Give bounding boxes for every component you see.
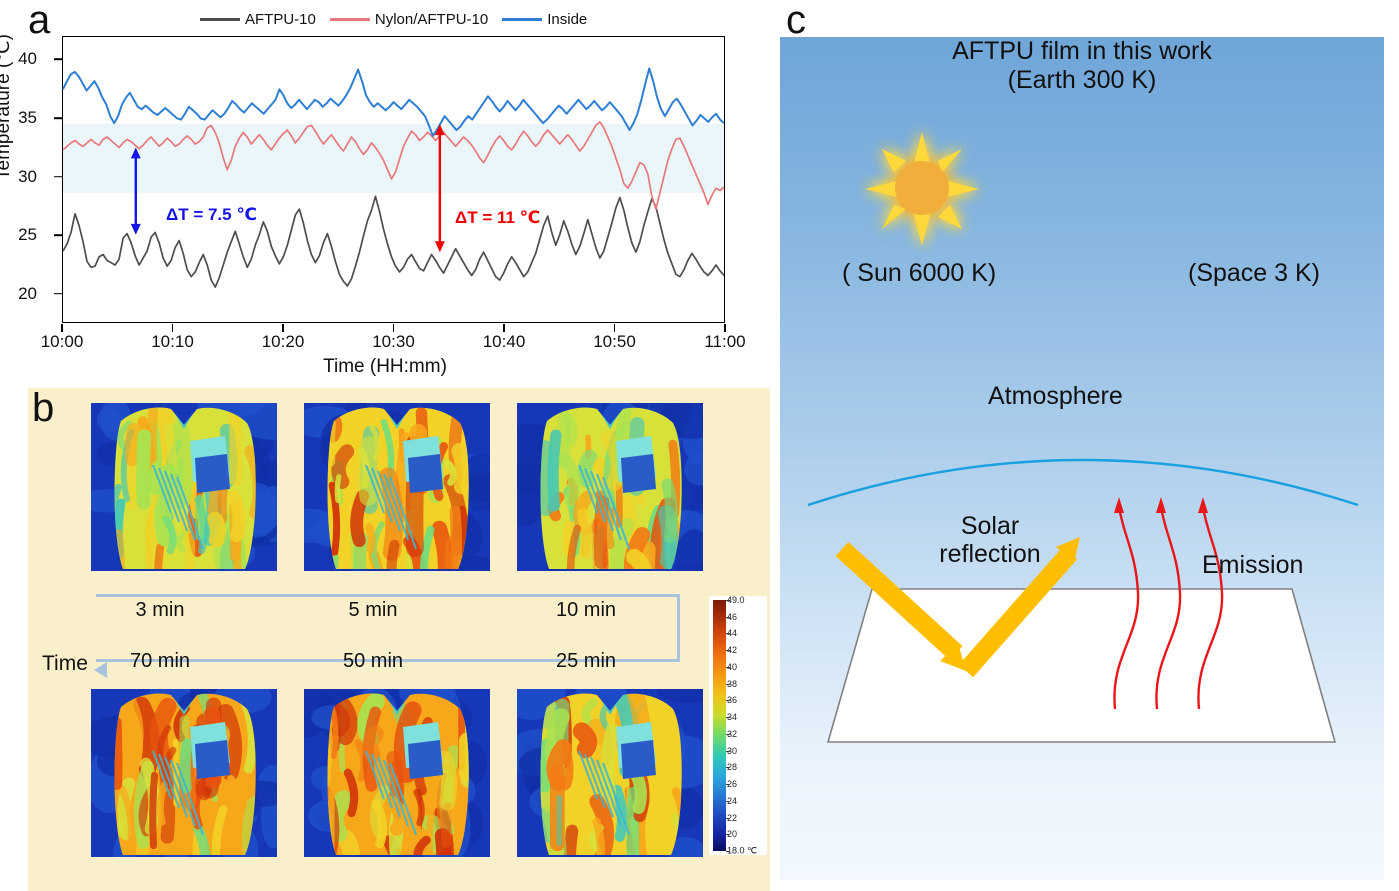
chart-legend: AFTPU-10Nylon/AFTPU-10Inside <box>200 8 590 30</box>
time-label-bottom-1: 70 min <box>130 650 190 673</box>
colorbar-gradient <box>713 600 726 851</box>
time-label-top-2: 5 min <box>349 599 398 622</box>
y-tick-20: 20 <box>0 284 37 304</box>
legend-item-2: Inside <box>502 11 587 28</box>
legend-swatch-2 <box>502 18 542 21</box>
thermal-image-5min <box>304 403 490 571</box>
thermal-image-10min <box>517 403 703 571</box>
colorbar-dash-15 <box>726 851 730 852</box>
delta-t-red-label: ΔT = 11 ℃ <box>455 208 540 228</box>
panel-a-temperature-chart: a AFTPU-10Nylon/AFTPU-10Inside 202530354… <box>0 0 770 385</box>
colorbar-dash-2 <box>726 633 730 634</box>
colorbar-dash-3 <box>726 650 730 651</box>
atmosphere-arc <box>808 460 1358 505</box>
colorbar-dash-8 <box>726 734 730 735</box>
colorbar-dash-12 <box>726 801 730 802</box>
panel-a-letter: a <box>28 0 50 40</box>
x-tick-mark-4 <box>503 324 505 332</box>
x-tick-1020: 10:20 <box>262 332 305 352</box>
x-axis-label: Time (HH:mm) <box>0 356 770 378</box>
emission-label: Emission <box>1202 551 1303 580</box>
legend-label-1: Nylon/AFTPU-10 <box>375 11 488 28</box>
colorbar-dash-5 <box>726 684 730 685</box>
time-label-bottom-2: 50 min <box>343 650 403 673</box>
delta-t-red-arrow <box>435 124 445 252</box>
colorbar-dash-10 <box>726 767 730 768</box>
colorbar-dash-0 <box>726 600 730 601</box>
colorbar-dash-7 <box>726 717 730 718</box>
x-tick-1040: 10:40 <box>483 332 526 352</box>
colorbar-dash-1 <box>726 617 730 618</box>
panel-c-radiative-cooling-schematic: ( Sun 6000 K) (Space 3 K) Atmosphere Sol… <box>780 37 1384 880</box>
y-tick-mark-20 <box>54 293 62 295</box>
time-label-top-3: 10 min <box>556 599 616 622</box>
legend-item-1: Nylon/AFTPU-10 <box>330 11 488 28</box>
x-tick-1030: 10:30 <box>372 332 415 352</box>
x-tick-mark-2 <box>282 324 284 332</box>
y-tick-25: 25 <box>0 225 37 245</box>
thermal-image-70min <box>91 689 277 857</box>
legend-swatch-0 <box>200 18 240 21</box>
panel-b-thermal-images: b Time 3 min 5 min 10 min 70 min 50 min … <box>28 388 770 891</box>
thermal-image-25min <box>517 689 703 857</box>
thermal-colorbar: 49.0464442403836343230282624222018.0 ℃ <box>709 596 767 855</box>
thermal-image-3min <box>91 403 277 571</box>
y-tick-mark-40 <box>54 59 62 61</box>
x-tick-mark-3 <box>393 324 395 332</box>
colorbar-dash-9 <box>726 751 730 752</box>
time-label-top-1: 3 min <box>136 599 185 622</box>
legend-label-2: Inside <box>547 11 587 28</box>
colorbar-dash-4 <box>726 667 730 668</box>
thermal-image-50min <box>304 689 490 857</box>
colorbar-dash-13 <box>726 818 730 819</box>
x-tick-1010: 10:10 <box>151 332 194 352</box>
legend-item-0: AFTPU-10 <box>200 11 316 28</box>
x-tick-1100: 11:00 <box>704 332 745 352</box>
time-arrow-head-icon <box>94 662 107 678</box>
legend-swatch-1 <box>330 18 370 21</box>
y-tick-mark-35 <box>54 117 62 119</box>
chart-plot-area <box>62 36 725 323</box>
panel-b-letter: b <box>32 388 54 428</box>
solar-reflection-label: Solar reflection <box>925 512 1055 568</box>
delta-t-blue-label: ΔT = 7.5 ℃ <box>166 205 257 225</box>
x-tick-mark-0 <box>61 324 63 332</box>
colorbar-dash-6 <box>726 700 730 701</box>
time-axis-label: Time <box>42 652 88 676</box>
delta-t-blue-arrow <box>131 148 141 235</box>
x-tick-1050: 10:50 <box>593 332 636 352</box>
x-tick-mark-1 <box>172 324 174 332</box>
colorbar-dash-14 <box>726 834 730 835</box>
chart-annotation-arrows <box>63 37 724 322</box>
panel-c-letter: c <box>786 0 806 40</box>
x-tick-1000: 10:00 <box>41 332 84 352</box>
x-tick-mark-6 <box>724 324 726 332</box>
legend-label-0: AFTPU-10 <box>245 11 316 28</box>
time-label-bottom-3: 25 min <box>556 650 616 673</box>
colorbar-tick-15: 18.0 ℃ <box>727 846 757 857</box>
y-axis-label: Temperature (℃) <box>0 34 15 180</box>
colorbar-dash-11 <box>726 784 730 785</box>
y-tick-mark-30 <box>54 176 62 178</box>
x-tick-mark-5 <box>614 324 616 332</box>
y-tick-mark-25 <box>54 234 62 236</box>
